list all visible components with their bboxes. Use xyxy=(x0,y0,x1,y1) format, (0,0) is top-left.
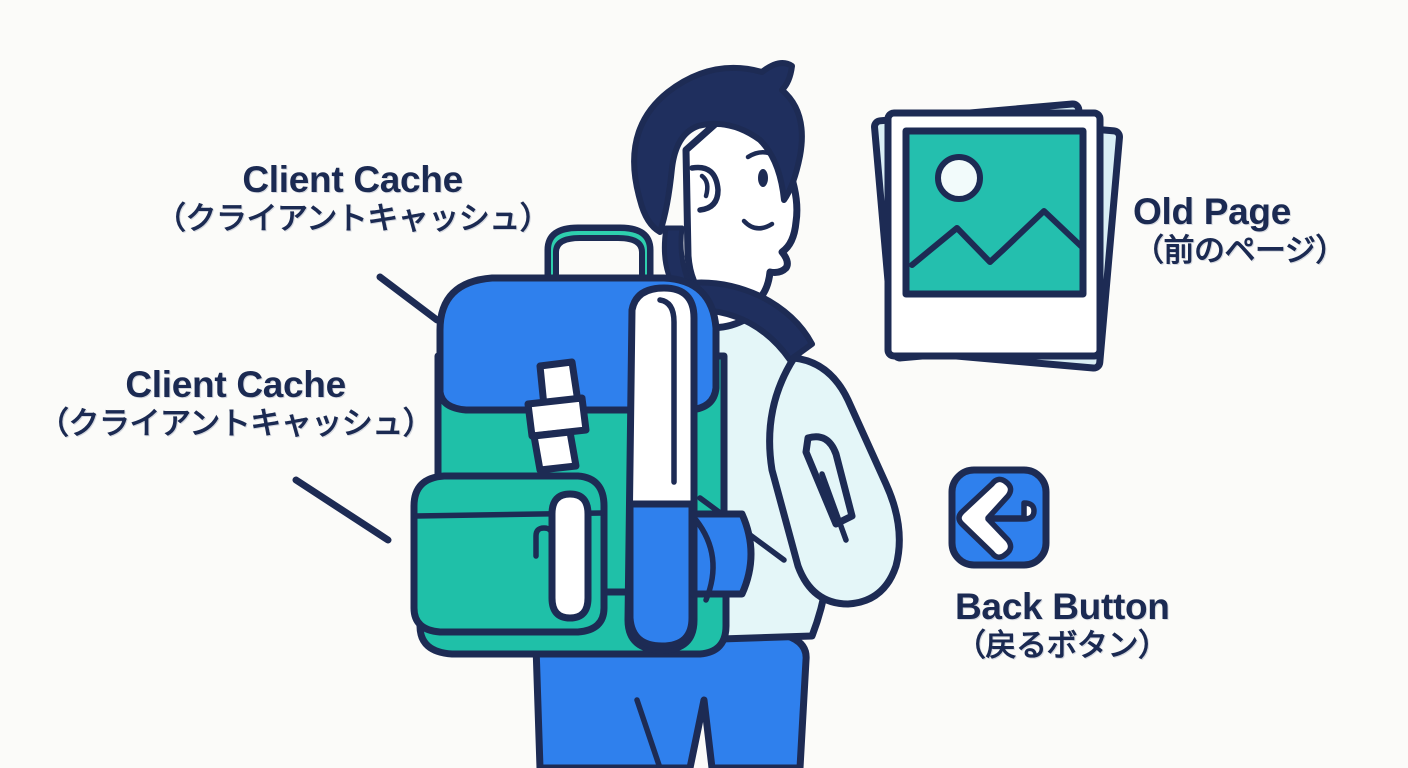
label-client-cache-top-jp: （クライアントキャッシュ） xyxy=(155,203,550,236)
label-client-cache-bottom-en: Client Cache xyxy=(38,365,433,404)
label-old-page-jp: （前のページ） xyxy=(1133,235,1346,268)
back-arrow-icon xyxy=(952,470,1046,565)
label-client-cache-top: Client Cache （クライアントキャッシュ） xyxy=(155,160,550,236)
label-old-page-en: Old Page xyxy=(1133,192,1346,231)
label-old-page: Old Page （前のページ） xyxy=(1133,192,1346,268)
label-client-cache-bottom: Client Cache （クライアントキャッシュ） xyxy=(38,365,433,441)
photo-stack-icon xyxy=(874,103,1120,368)
label-back-button: Back Button （戻るボタン） xyxy=(955,587,1170,663)
label-client-cache-top-en: Client Cache xyxy=(155,160,550,199)
label-back-button-jp: （戻るボタン） xyxy=(955,630,1170,663)
label-client-cache-bottom-jp: （クライアントキャッシュ） xyxy=(38,408,433,441)
illustration-canvas: .ol { fill:none; stroke:#1d2b54; stroke-… xyxy=(0,0,1408,768)
label-back-button-en: Back Button xyxy=(955,587,1170,626)
